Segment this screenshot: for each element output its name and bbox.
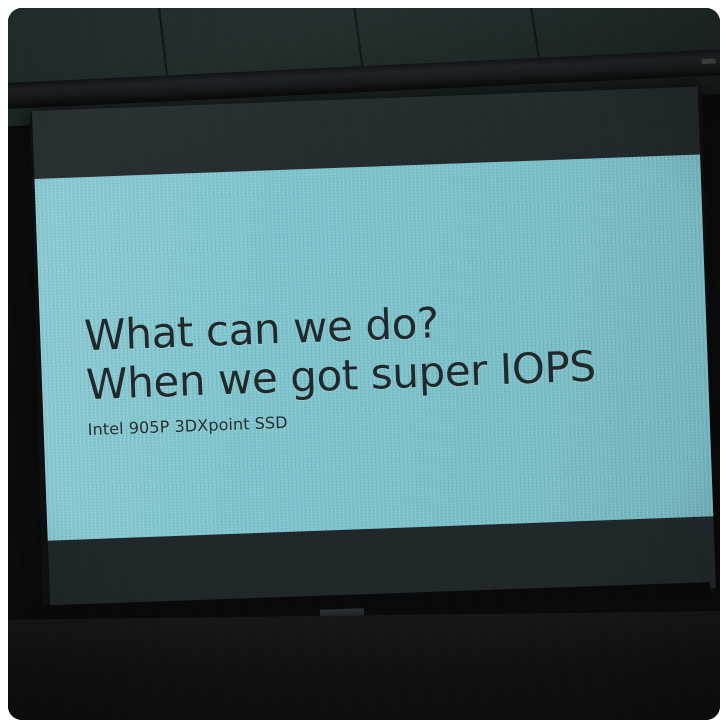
photograph: What can we do? When we got super IOPS I… (8, 8, 720, 720)
slide-text-block: What can we do? When we got super IOPS I… (83, 291, 647, 440)
photo-frame: What can we do? When we got super IOPS I… (0, 0, 728, 728)
projected-image-area: What can we do? When we got super IOPS I… (32, 87, 716, 613)
presentation-slide: What can we do? When we got super IOPS I… (34, 155, 713, 541)
lower-wall (8, 610, 720, 720)
roller-end-cap-icon (702, 58, 716, 64)
